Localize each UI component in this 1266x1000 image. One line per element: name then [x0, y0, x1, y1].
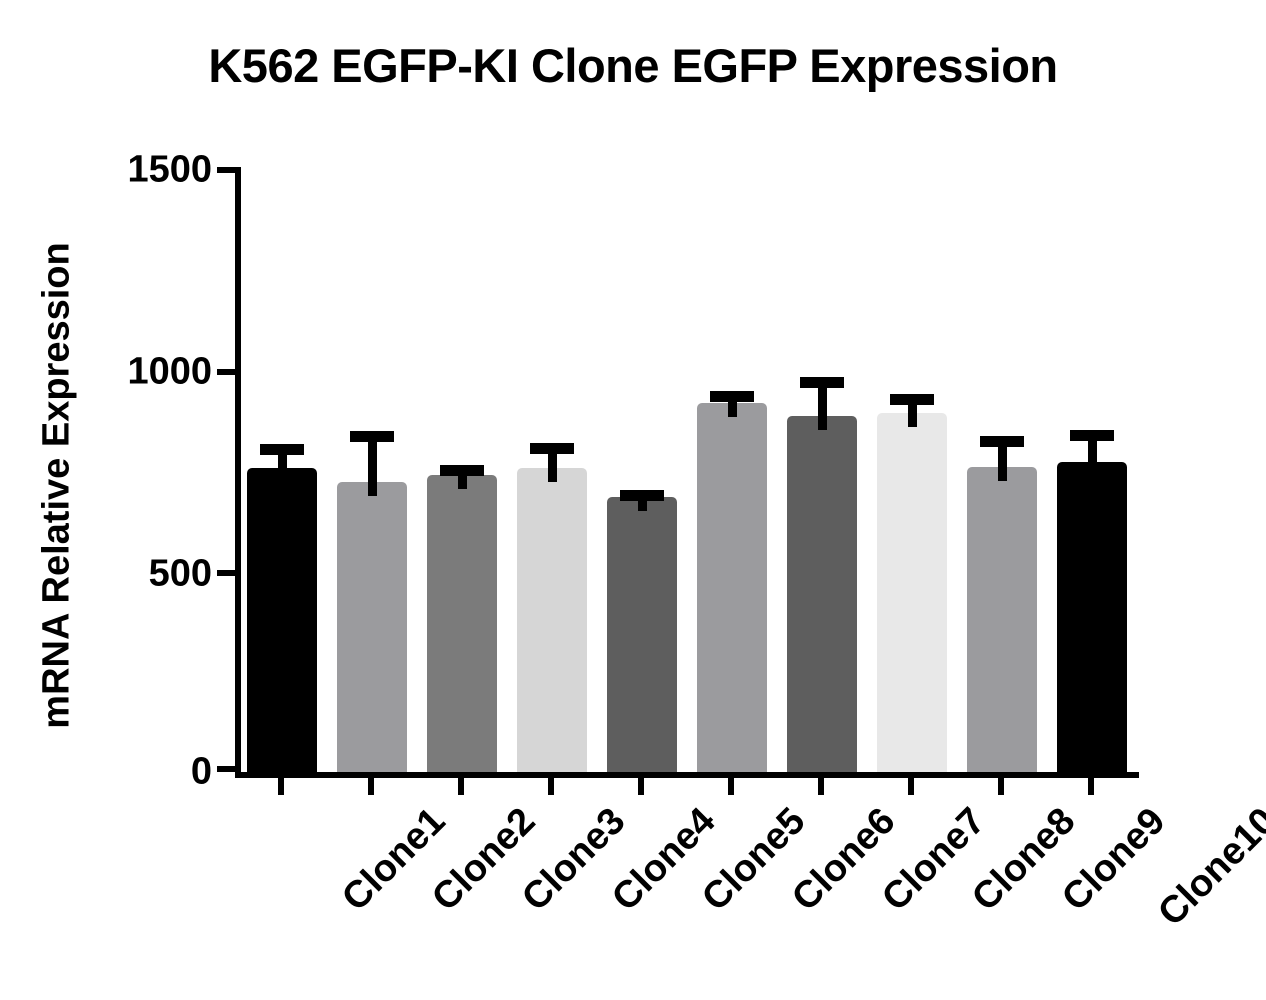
- error-bar-cap: [620, 490, 664, 501]
- bar-clone1[interactable]: [247, 468, 317, 772]
- bar-clone8[interactable]: [877, 413, 947, 772]
- bar-clone3[interactable]: [427, 475, 497, 772]
- x-label-clone10: Clone10: [1150, 800, 1266, 935]
- y-tick-label-0: 0: [107, 751, 212, 794]
- error-bar-cap: [890, 394, 934, 405]
- error-bar-cap: [350, 431, 394, 442]
- x-tick-4: [548, 778, 554, 795]
- bar-clone7[interactable]: [787, 416, 857, 772]
- y-tick-label-1500: 1500: [107, 149, 212, 192]
- bar-chart-figure: K562 EGFP-KI Clone EGFP Expression mRNA …: [0, 0, 1266, 1000]
- y-tick-label-500: 500: [107, 553, 212, 596]
- y-tick-1500: [217, 167, 235, 173]
- error-bar-cap: [530, 443, 574, 454]
- error-bar-cap: [980, 436, 1024, 447]
- x-tick-10: [1088, 778, 1094, 795]
- y-tick-1000: [217, 369, 235, 375]
- error-bar-cap: [440, 465, 484, 476]
- x-tick-9: [998, 778, 1004, 795]
- bar-clone4[interactable]: [517, 468, 587, 772]
- error-bar-cap: [800, 377, 844, 388]
- y-axis-line: [235, 167, 241, 772]
- error-bar-cap: [1070, 430, 1114, 441]
- y-tick-0: [217, 766, 235, 772]
- x-tick-7: [818, 778, 824, 795]
- error-bar-cap: [260, 444, 304, 455]
- x-tick-5: [638, 778, 644, 795]
- bar-clone2[interactable]: [337, 482, 407, 772]
- bar-clone5[interactable]: [607, 497, 677, 772]
- chart-title: K562 EGFP-KI Clone EGFP Expression: [0, 42, 1266, 89]
- y-axis-title: mRNA Relative Expression: [36, 176, 79, 796]
- y-tick-500: [217, 570, 235, 576]
- bar-clone10[interactable]: [1057, 462, 1127, 772]
- bar-clone6[interactable]: [697, 403, 767, 772]
- x-tick-8: [908, 778, 914, 795]
- x-tick-2: [368, 778, 374, 795]
- error-bar-cap: [710, 391, 754, 402]
- x-tick-3: [458, 778, 464, 795]
- plot-area: [235, 167, 1139, 772]
- x-tick-6: [728, 778, 734, 795]
- y-tick-label-1000: 1000: [107, 351, 212, 394]
- x-tick-1: [278, 778, 284, 795]
- bar-clone9[interactable]: [967, 467, 1037, 772]
